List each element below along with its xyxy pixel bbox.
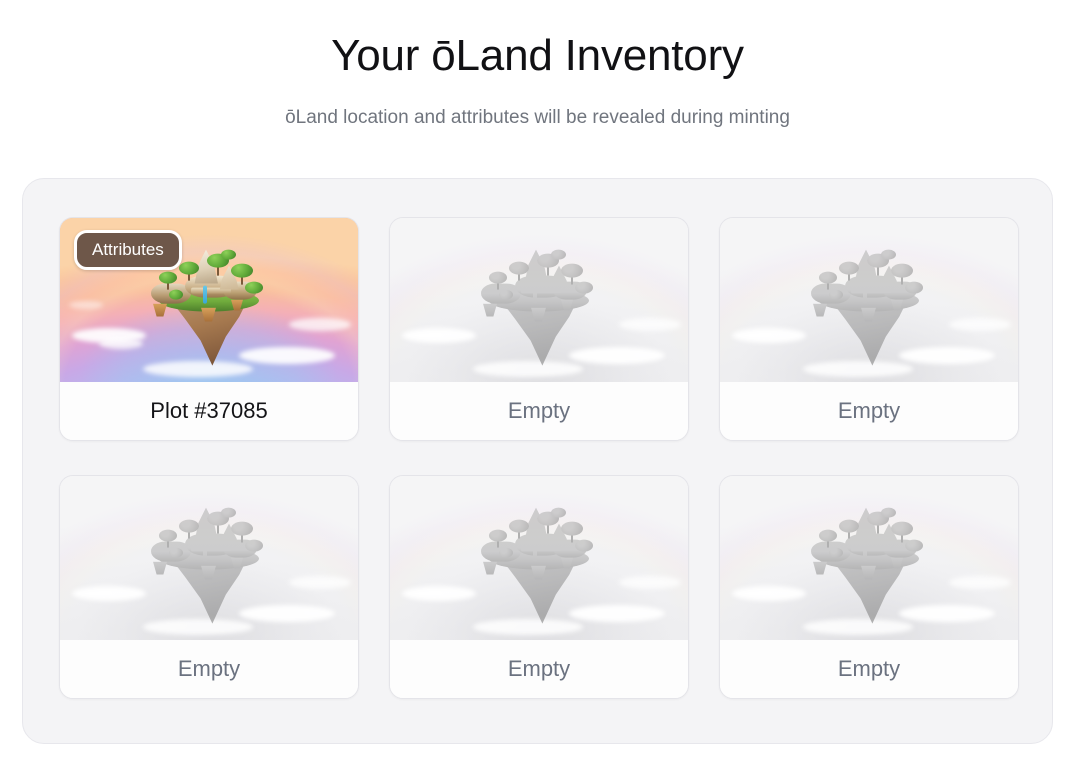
sky-gradient: [390, 476, 688, 642]
inventory-card-3[interactable]: Empty: [719, 217, 1019, 441]
inventory-card-2[interactable]: Empty: [389, 217, 689, 441]
card-artwork: [60, 476, 358, 642]
card-label: Plot #37085: [60, 382, 358, 440]
inventory-card-4[interactable]: Empty: [59, 475, 359, 699]
card-artwork: Attributes: [60, 218, 358, 384]
card-label: Empty: [720, 640, 1018, 698]
card-artwork: [390, 476, 688, 642]
card-artwork: [720, 476, 1018, 642]
inventory-panel: Attributes Plot #37085: [22, 178, 1053, 744]
sky-gradient: [720, 476, 1018, 642]
card-label: Empty: [390, 640, 688, 698]
card-artwork: [720, 218, 1018, 384]
page-subtitle: ōLand location and attributes will be re…: [0, 104, 1075, 132]
sky-gradient: [60, 476, 358, 642]
inventory-grid: Attributes Plot #37085: [59, 217, 1019, 699]
card-label: Empty: [390, 382, 688, 440]
attributes-badge[interactable]: Attributes: [74, 230, 182, 270]
sky-gradient: [390, 218, 688, 384]
inventory-card-5[interactable]: Empty: [389, 475, 689, 699]
inventory-page: Your ōLand Inventory ōLand location and …: [0, 0, 1075, 778]
sky-gradient: [720, 218, 1018, 384]
page-title: Your ōLand Inventory: [0, 28, 1075, 84]
card-label: Empty: [720, 382, 1018, 440]
inventory-card-1[interactable]: Attributes Plot #37085: [59, 217, 359, 441]
card-artwork: [390, 218, 688, 384]
card-label: Empty: [60, 640, 358, 698]
inventory-card-6[interactable]: Empty: [719, 475, 1019, 699]
